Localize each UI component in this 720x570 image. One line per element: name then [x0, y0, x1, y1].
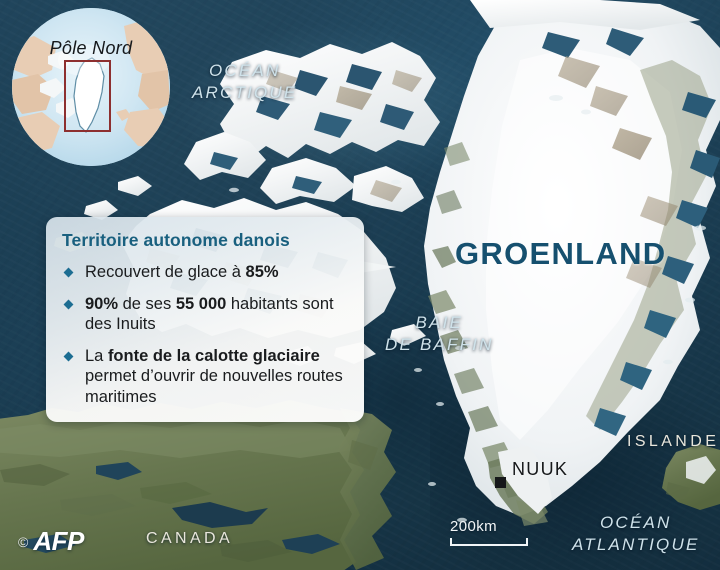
scale-bar-line: [450, 538, 528, 546]
capital-marker-icon: [495, 477, 506, 488]
scale-bar: 200km: [450, 518, 528, 546]
diamond-bullet-icon: [64, 268, 74, 278]
iceland-landmass: [662, 444, 720, 510]
diamond-bullet-icon: [64, 351, 74, 361]
bullet-text: La fonte de la calotte glaciaire permet …: [85, 347, 343, 406]
afp-logo-mark: AFP: [33, 526, 84, 557]
polar-inset-globe: Pôle Nord: [12, 8, 170, 166]
bullet-text: 90% de ses 55 000 habitants sont des Inu…: [85, 295, 334, 334]
diamond-bullet-icon: [64, 299, 74, 309]
afp-credit: © AFP: [18, 526, 84, 557]
copyright-icon: ©: [18, 534, 28, 550]
list-item: La fonte de la calotte glaciaire permet …: [62, 346, 348, 408]
list-item: Recouvert de glace à 85%: [62, 262, 348, 283]
info-box-title: Territoire autonome danois: [62, 230, 348, 251]
inset-title: Pôle Nord: [12, 38, 170, 59]
scale-bar-label: 200km: [450, 518, 528, 535]
info-callout-box: Territoire autonome danois Recouvert de …: [46, 217, 364, 422]
inset-highlight-box: [64, 60, 111, 132]
infographic-map: Pôle Nord OCÉAN ARCTIQUE GROENLAND BAIE …: [0, 0, 720, 570]
callout-pointer: [360, 261, 396, 273]
bullet-text: Recouvert de glace à 85%: [85, 263, 279, 281]
info-box-bullet-list: Recouvert de glace à 85% 90% de ses 55 0…: [62, 262, 348, 407]
list-item: 90% de ses 55 000 habitants sont des Inu…: [62, 294, 348, 335]
greenland-landmass: [424, 0, 720, 526]
